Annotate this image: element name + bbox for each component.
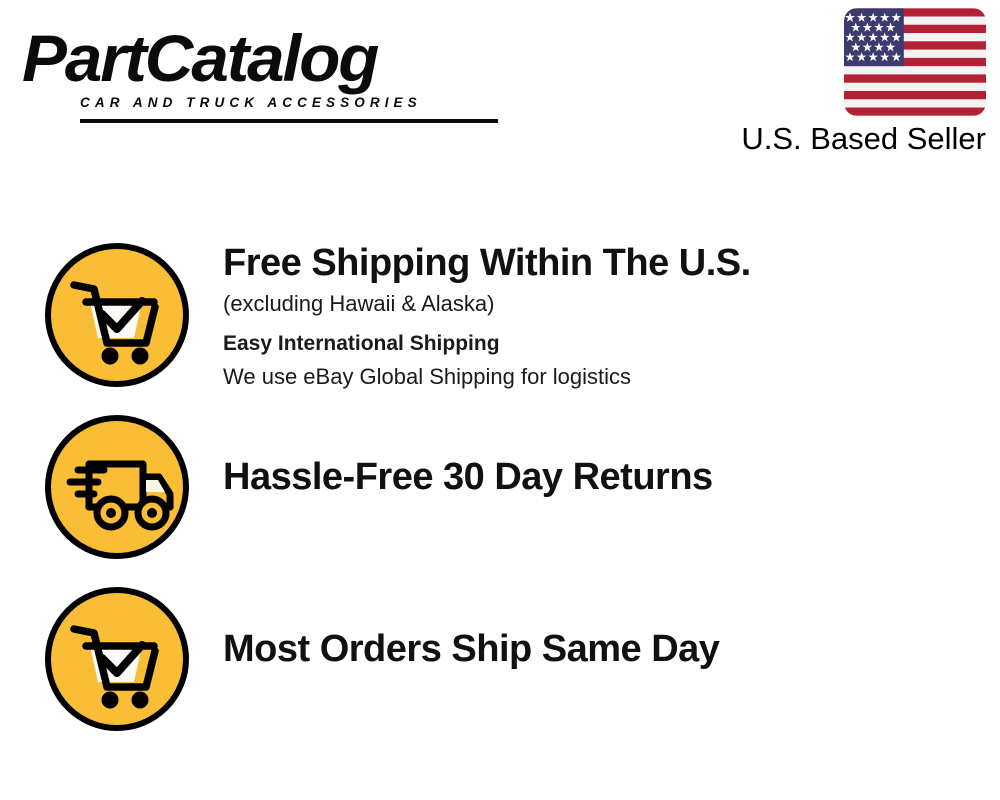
us-flag-icon (844, 8, 986, 116)
feature-text-block: Free Shipping Within The U.S. (excluding… (223, 240, 751, 392)
brand-tagline: CAR AND TRUCK ACCESSORIES (80, 95, 502, 110)
feature-subtitle: (excluding Hawaii & Alaska) (223, 289, 751, 319)
feature-title: Free Shipping Within The U.S. (223, 240, 751, 286)
us-based-seller-badge: U.S. Based Seller (726, 8, 986, 159)
brand-wordmark: PartCatalog (22, 22, 512, 94)
feature-secondary-subtitle: We use eBay Global Shipping for logistic… (223, 362, 751, 392)
feature-text-block: Most Orders Ship Same Day (223, 584, 719, 672)
feature-title: Hassle-Free 30 Day Returns (223, 454, 713, 500)
delivery-truck-icon (42, 412, 192, 562)
brand-underline-rule (80, 119, 498, 123)
feature-row: Free Shipping Within The U.S. (excluding… (0, 240, 1000, 392)
brand-logo[interactable]: PartCatalog CAR AND TRUCK ACCESSORIES (22, 22, 502, 122)
feature-row: Most Orders Ship Same Day (0, 584, 1000, 734)
feature-title: Most Orders Ship Same Day (223, 626, 719, 672)
feature-row: Hassle-Free 30 Day Returns (0, 412, 1000, 562)
feature-secondary-title: Easy International Shipping (223, 329, 751, 359)
feature-text-block: Hassle-Free 30 Day Returns (223, 412, 713, 500)
shopping-cart-check-icon (42, 584, 192, 734)
us-based-seller-label: U.S. Based Seller (741, 119, 986, 159)
shopping-cart-check-icon (42, 240, 192, 390)
